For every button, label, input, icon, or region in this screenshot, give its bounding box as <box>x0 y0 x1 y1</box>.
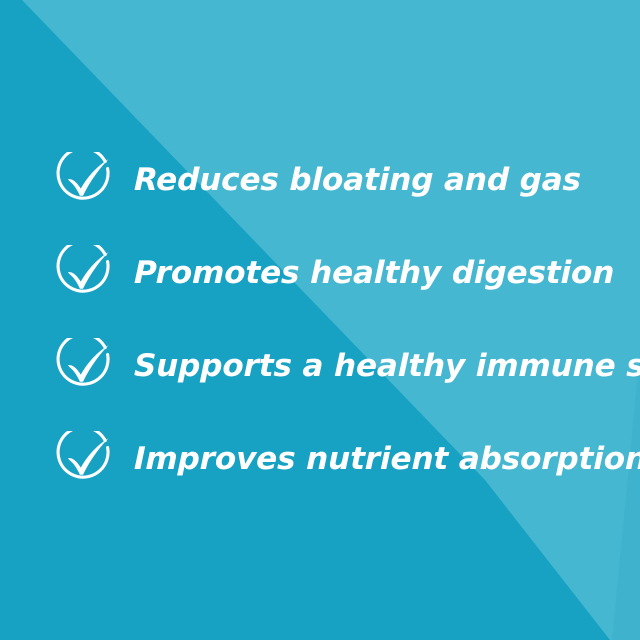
circle-check-swoosh-icon <box>55 431 113 487</box>
benefits-graphic: Reduces bloating and gas Promotes health… <box>0 0 640 640</box>
benefit-item-absorption: Improves nutrient absorption <box>55 431 640 487</box>
benefit-label: Supports a healthy immune system <box>134 351 640 382</box>
benefit-label: Reduces bloating and gas <box>134 165 581 196</box>
benefit-label: Improves nutrient absorption <box>134 444 640 475</box>
benefit-label: Promotes healthy digestion <box>134 258 615 289</box>
circle-check-swoosh-icon <box>55 245 113 301</box>
benefits-list: Reduces bloating and gas Promotes health… <box>0 0 640 640</box>
benefit-item-digestion: Promotes healthy digestion <box>55 245 614 301</box>
benefit-item-immune: Supports a healthy immune system <box>55 338 640 394</box>
circle-check-swoosh-icon <box>55 338 113 394</box>
benefit-item-bloating: Reduces bloating and gas <box>55 152 581 208</box>
circle-check-swoosh-icon <box>55 152 113 208</box>
